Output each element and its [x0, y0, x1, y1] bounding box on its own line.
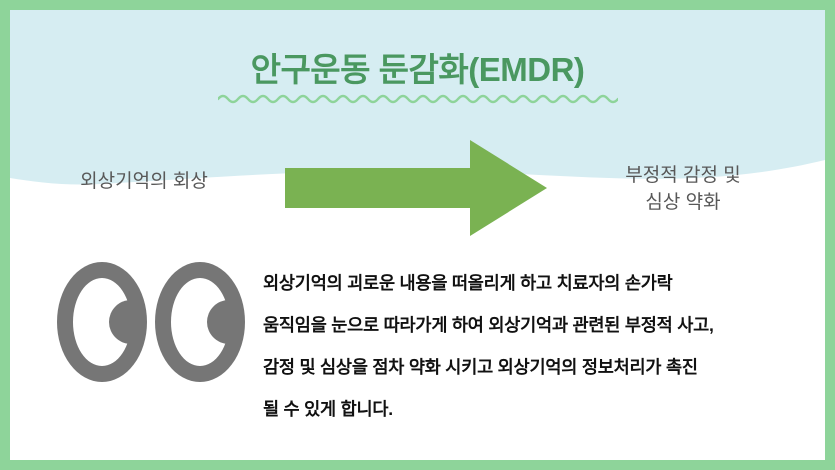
slide-root: 안구운동 둔감화(EMDR) 외상기억의 회상 부정적 감정 및 심상 약화 [0, 0, 835, 470]
slide-canvas: 안구운동 둔감화(EMDR) 외상기억의 회상 부정적 감정 및 심상 약화 [10, 10, 825, 460]
flow-target-label-line-1: 부정적 감정 및 [568, 162, 798, 189]
right-arrow-shape [275, 138, 555, 238]
right-arrow-icon [275, 138, 555, 238]
wave-shape [218, 90, 618, 104]
eyes-icon [52, 258, 252, 386]
body-paragraph: 외상기억의 괴로운 내용을 떠올리게 하고 치료자의 손가락 움직임을 눈으로 … [263, 262, 815, 430]
eyes-icon-shape [52, 258, 252, 386]
body-line-3: 감정 및 심상을 점차 약화 시키고 외상기억의 정보처리가 촉진 [263, 346, 815, 388]
flow-source-label: 외상기억의 회상 [34, 168, 254, 195]
flow-target-label: 부정적 감정 및 심상 약화 [568, 162, 798, 216]
body-line-4: 될 수 있게 합니다. [263, 388, 815, 430]
flow-target-label-line-2: 심상 약화 [568, 189, 798, 216]
title-wave-underline [218, 90, 618, 104]
body-line-1: 외상기억의 괴로운 내용을 떠올리게 하고 치료자의 손가락 [263, 262, 815, 304]
page-title: 안구운동 둔감화(EMDR) [10, 50, 825, 90]
body-line-2: 움직임을 눈으로 따라가게 하여 외상기억과 관련된 부정적 사고, [263, 304, 815, 346]
